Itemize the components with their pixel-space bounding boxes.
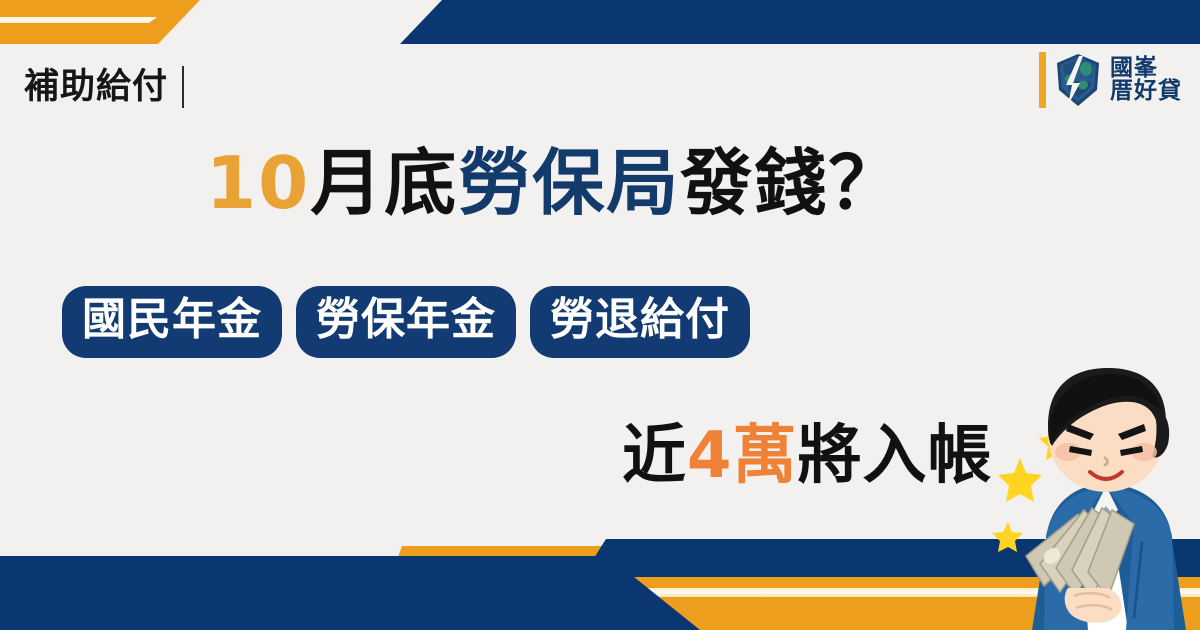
top-orange-highlight-streak [0, 17, 157, 23]
benefit-pill-group: 國民年金 勞保年金 勞退給付 [62, 286, 750, 358]
shield-emblem-icon [1053, 52, 1103, 108]
kicker-label: 補助給付 [24, 70, 168, 105]
benefit-pill-labor-pension[interactable]: 勞保年金 [296, 286, 516, 358]
benefit-pill-national-pension[interactable]: 國民年金 [62, 286, 282, 358]
top-navy-band [400, 0, 1200, 44]
page-title: 10月底勞保局發錢？ [206, 147, 902, 219]
page-title-segment-2: 發錢？ [680, 141, 902, 225]
subtitle-segment-2: 將入帳 [798, 419, 993, 493]
page-title-highlight: 勞保局 [458, 141, 680, 225]
subtitle: 近4萬將入帳 [622, 424, 993, 488]
brand-logo[interactable]: 國峯 厝好貸 [1039, 52, 1182, 108]
poster-canvas: 補助給付 國峯 厝好貸 10月底勞保局發錢？ 國民 [0, 0, 1200, 630]
logo-wordmark-line1: 國峯 [1110, 57, 1158, 80]
businessman-holding-cash-icon [1010, 360, 1200, 630]
kicker-divider [182, 66, 184, 108]
logo-accent-bar [1039, 52, 1046, 108]
subtitle-segment-1: 近 [622, 419, 687, 493]
benefit-pill-labor-retirement[interactable]: 勞退給付 [530, 286, 750, 358]
subtitle-amount-highlight: 4萬 [687, 419, 798, 493]
page-title-number: 10 [206, 141, 310, 225]
logo-wordmark: 國峯 厝好貸 [1110, 57, 1182, 104]
kicker: 補助給付 [24, 66, 184, 108]
logo-wordmark-line2: 厝好貸 [1110, 80, 1182, 103]
page-title-segment-1: 月底 [310, 141, 458, 225]
